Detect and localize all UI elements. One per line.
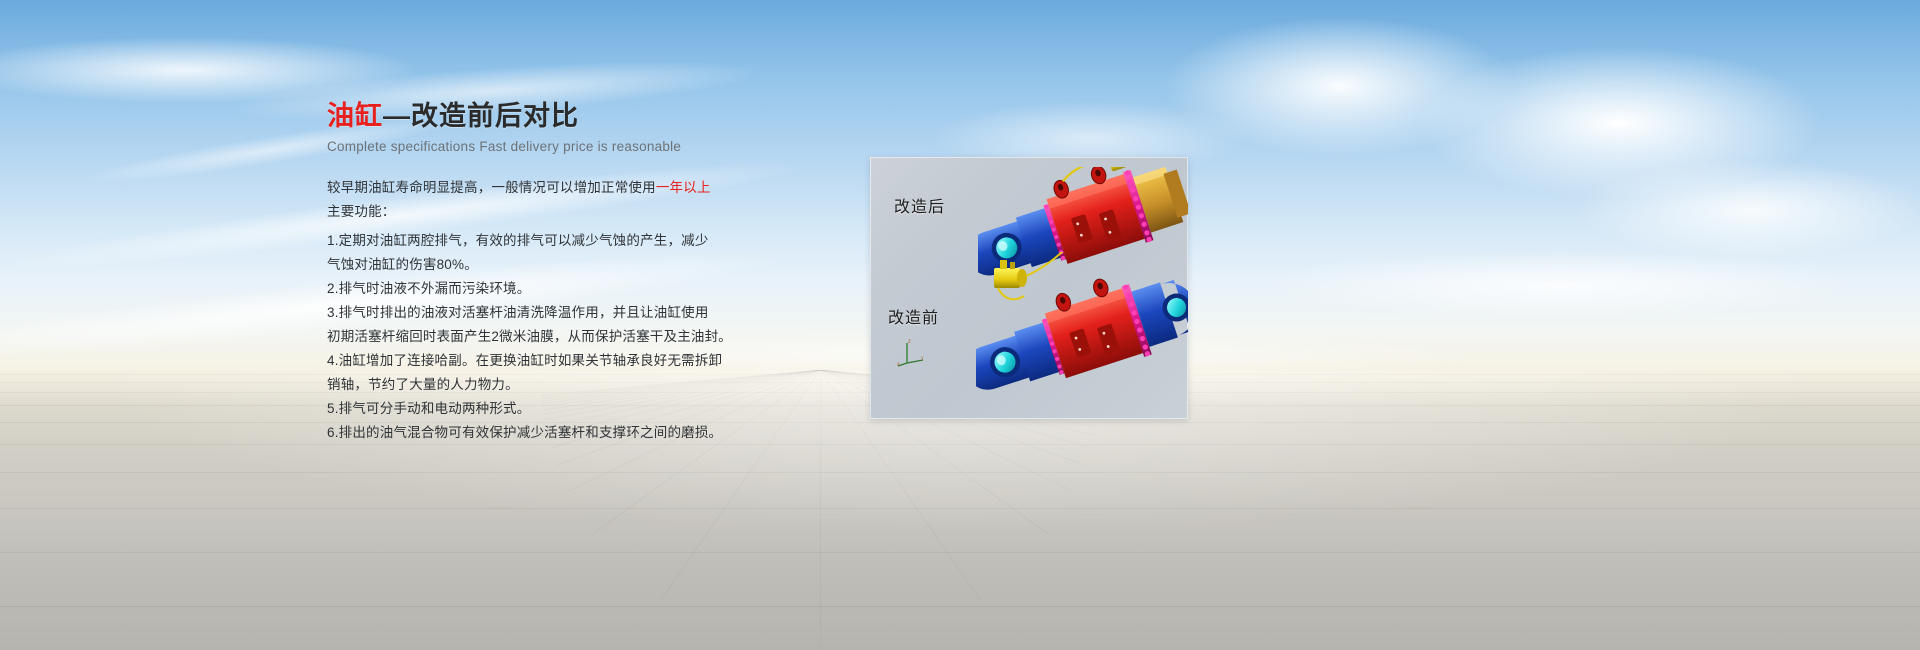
svg-text:X: X xyxy=(897,362,900,367)
page-title: 油缸—改造前后对比 xyxy=(327,100,867,132)
axis-triad-icon: Z X Y xyxy=(897,339,925,367)
feature-line-text: 4.油缸增加了连接哈副。在更换油缸时如果关节轴承良好无需拆卸 xyxy=(327,353,722,368)
label-before-modification: 改造前 xyxy=(888,304,939,328)
feature-list: 较早期油缸寿命明显提高，一般情况可以增加正常使用一年以上主要功能：1.定期对油缸… xyxy=(327,176,867,445)
feature-line-text: 主要功能： xyxy=(327,204,396,219)
feature-line-item-4b: 销轴，节约了大量的人力物力。 xyxy=(327,373,867,397)
cylinder-before-modification xyxy=(976,275,1188,405)
banner-stage: 油缸—改造前后对比 Complete specifications Fast d… xyxy=(0,0,1920,650)
label-after-modification: 改造后 xyxy=(894,193,945,217)
feature-line-text: 初期活塞杆缩回时表面产生2微米油膜，从而保护活塞干及主油封。 xyxy=(327,329,732,344)
cad-comparison-panel: 改造后 改造前 xyxy=(870,157,1188,419)
feature-line-text: 1.定期对油缸两腔排气，有效的排气可以减少气蚀的产生，减少 xyxy=(327,233,709,248)
feature-line-item-1a: 1.定期对油缸两腔排气，有效的排气可以减少气蚀的产生，减少 xyxy=(327,229,867,253)
page-title-highlight: 油缸 xyxy=(327,101,383,131)
feature-line-highlight: 一年以上 xyxy=(656,180,711,195)
svg-text:Y: Y xyxy=(920,356,924,361)
svg-text:Z: Z xyxy=(908,339,911,344)
feature-line-item-6: 6.排出的油气混合物可有效保护减少活塞杆和支撑环之间的磨损。 xyxy=(327,421,867,445)
feature-line-item-4a: 4.油缸增加了连接哈副。在更换油缸时如果关节轴承良好无需拆卸 xyxy=(327,349,867,373)
banner-content: 油缸—改造前后对比 Complete specifications Fast d… xyxy=(327,100,867,445)
feature-line-text: 6.排出的油气混合物可有效保护减少活塞杆和支撑环之间的磨损。 xyxy=(327,425,722,440)
feature-line-item-1b: 气蚀对油缸的伤害80%。 xyxy=(327,253,867,277)
feature-line-item-5: 5.排气可分手动和电动两种形式。 xyxy=(327,397,867,421)
page-subtitle: Complete specifications Fast delivery pr… xyxy=(327,139,867,154)
feature-line-text: 2.排气时油液不外漏而污染环境。 xyxy=(327,281,530,296)
feature-line-text: 气蚀对油缸的伤害80%。 xyxy=(327,257,478,272)
feature-line-text: 销轴，节约了大量的人力物力。 xyxy=(327,377,519,392)
feature-line-item-2: 2.排气时油液不外漏而污染环境。 xyxy=(327,277,867,301)
feature-line-item-3a: 3.排气时排出的油液对活塞杆油清洗降温作用，并且让油缸使用 xyxy=(327,301,867,325)
feature-line-text: 3.排气时排出的油液对活塞杆油清洗降温作用，并且让油缸使用 xyxy=(327,305,709,320)
feature-line-text: 较早期油缸寿命明显提高，一般情况可以增加正常使用 xyxy=(327,180,656,195)
feature-line-intro-1: 较早期油缸寿命明显提高，一般情况可以增加正常使用一年以上 xyxy=(327,176,867,200)
feature-line-item-3b: 初期活塞杆缩回时表面产生2微米油膜，从而保护活塞干及主油封。 xyxy=(327,325,867,349)
feature-line-intro-2: 主要功能： xyxy=(327,200,867,224)
page-title-rest: —改造前后对比 xyxy=(383,101,579,131)
feature-line-text: 5.排气可分手动和电动两种形式。 xyxy=(327,401,530,416)
